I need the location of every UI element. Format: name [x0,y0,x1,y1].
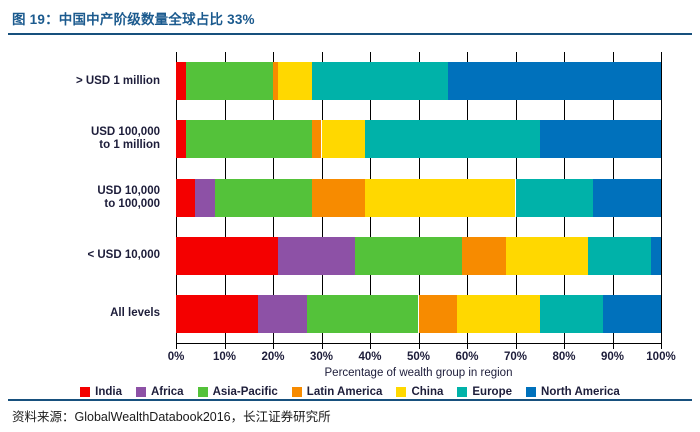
x-axis-tick-label: 90% [590,351,636,363]
x-axis-tick [467,343,468,349]
y-axis-label: USD 10,000to 100,000 [0,185,160,211]
bar-segment [215,179,312,217]
x-axis-tick [370,343,371,349]
bar-segment [176,179,195,217]
x-axis-title: Percentage of wealth group in region [176,367,661,379]
legend-item[interactable]: Latin America [292,386,383,398]
bar-segment [278,237,356,275]
legend-swatch-icon [198,387,208,397]
legend-item[interactable]: Africa [136,386,184,398]
bar-segment [278,62,312,100]
legend-label: Latin America [307,386,383,398]
bar-segment [593,179,661,217]
legend-swatch-icon [457,387,467,397]
bar-segment [176,295,258,333]
x-axis-tick-label: 100% [638,351,684,363]
header-divider [8,33,692,35]
legend-swatch-icon [80,387,90,397]
y-axis-label-line: All levels [0,307,160,320]
gridline-100 [661,52,662,343]
bar-row [176,120,661,158]
bar-segment [312,120,322,158]
bar-segment [365,179,515,217]
bar-row [176,295,661,333]
x-axis-tick [516,343,517,349]
y-axis-label-line: USD 10,000 [0,185,160,198]
source-note: 资料来源：GlobalWealthDatabook2016，长江证券研究所 [12,406,331,425]
plot-area [176,52,661,343]
legend-swatch-icon [396,387,406,397]
y-axis-label-line: < USD 10,000 [0,249,160,262]
legend-item[interactable]: Asia-Pacific [198,386,278,398]
figure-panel: 图 19：中国中产阶级数量全球占比 33% > USD 1 millionUSD… [0,0,700,432]
x-axis-tick [273,343,274,349]
legend-label: Africa [151,386,184,398]
chart-legend: IndiaAfricaAsia-PacificLatin AmericaChin… [0,386,700,398]
bar-segment [322,120,366,158]
bar-segment [195,179,214,217]
bar-segment [516,179,594,217]
x-axis-tick [322,343,323,349]
x-axis-tick-label: 40% [347,351,393,363]
bar-segment [462,237,506,275]
bar-segment [186,62,273,100]
y-axis-label-line: > USD 1 million [0,75,160,88]
bar-segment [176,237,278,275]
bar-segment [457,295,539,333]
bar-row [176,62,661,100]
figure-title: 图 19：中国中产阶级数量全球占比 33% [12,8,700,28]
x-axis-tick-label: 80% [541,351,587,363]
y-axis-label-line: USD 100,000 [0,126,160,139]
x-axis-tick-label: 20% [250,351,296,363]
x-axis-tick-label: 70% [493,351,539,363]
x-axis-tick [419,343,420,349]
y-axis-labels: > USD 1 millionUSD 100,000to 1 millionUS… [0,52,168,343]
bar-row [176,237,661,275]
y-axis-label-line: to 100,000 [0,198,160,211]
legend-label: Europe [472,386,512,398]
bar-segment [176,120,186,158]
bar-segment [312,179,365,217]
bar-segment [540,295,603,333]
legend-item[interactable]: India [80,386,122,398]
legend-label: Asia-Pacific [213,386,278,398]
legend-item[interactable]: North America [526,386,620,398]
chart-area: > USD 1 millionUSD 100,000to 1 millionUS… [0,38,700,396]
y-axis-label: USD 100,000to 1 million [0,126,160,152]
y-axis-label-line: to 1 million [0,139,160,152]
x-axis-tick [176,343,177,349]
x-axis-tick-label: 0% [153,351,199,363]
bar-segment [540,120,661,158]
x-axis-tick-label: 30% [299,351,345,363]
bar-segment [312,62,448,100]
bar-segment [258,295,307,333]
bar-row [176,179,661,217]
legend-label: China [411,386,443,398]
legend-swatch-icon [136,387,146,397]
x-axis-tick [613,343,614,349]
x-axis-tick-label: 50% [396,351,442,363]
x-axis-tick-label: 60% [444,351,490,363]
y-axis-label: > USD 1 million [0,75,160,88]
y-axis-label: All levels [0,307,160,320]
footer-divider [8,399,692,401]
bar-segment [506,237,588,275]
bar-segment [186,120,312,158]
bar-segment [448,62,661,100]
bar-segment [588,237,651,275]
bar-segment [307,295,419,333]
y-axis-label: < USD 10,000 [0,249,160,262]
legend-item[interactable]: Europe [457,386,512,398]
legend-swatch-icon [526,387,536,397]
bar-segment [176,62,186,100]
legend-label: India [95,386,122,398]
legend-swatch-icon [292,387,302,397]
figure-header: 图 19：中国中产阶级数量全球占比 33% [0,0,700,36]
bar-segment [603,295,661,333]
x-axis-tick-label: 10% [202,351,248,363]
bar-segment [355,237,462,275]
x-axis-tick [564,343,565,349]
bar-segment [365,120,540,158]
x-axis-tick [225,343,226,349]
x-axis-tick [661,343,662,349]
legend-item[interactable]: China [396,386,443,398]
legend-label: North America [541,386,620,398]
bar-segment [651,237,661,275]
bar-segment [419,295,458,333]
